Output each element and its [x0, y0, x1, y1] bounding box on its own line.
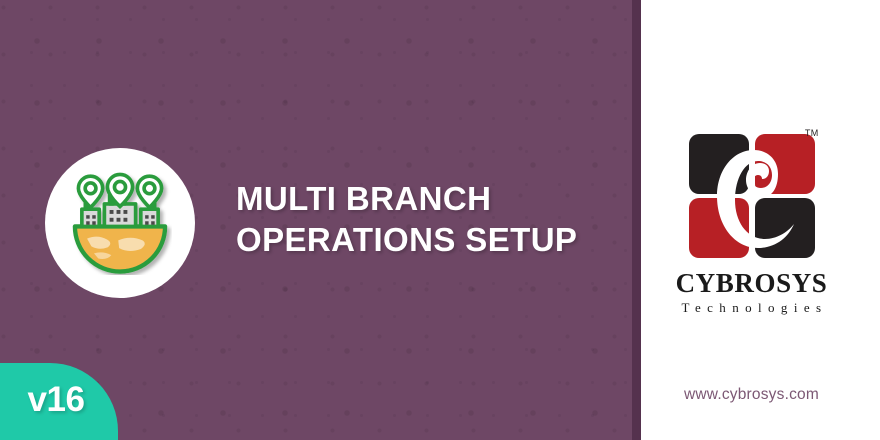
banner-title: MULTI BRANCH OPERATIONS SETUP: [236, 178, 626, 260]
panel-divider: [632, 0, 641, 440]
title-line-2: OPERATIONS SETUP: [236, 219, 626, 260]
title-line-1: MULTI BRANCH: [236, 178, 626, 219]
version-label: v16: [28, 380, 85, 420]
trademark-mark: TM: [805, 128, 819, 138]
brand-subtitle: Technologies: [676, 298, 828, 318]
brand-logo-block: TM CYBROSYS Technologies: [632, 126, 871, 318]
right-white-panel: TM CYBROSYS Technologies www.cybrosys.co…: [632, 0, 871, 440]
promo-banner: MULTI BRANCH OPERATIONS SETUP v16 TM: [0, 0, 880, 440]
version-badge: v16: [0, 363, 118, 440]
cybrosys-logo-icon: [677, 126, 827, 266]
cybrosys-logo-mark-wrap: TM: [677, 126, 827, 266]
multi-branch-globe-icon: [68, 171, 172, 275]
left-purple-panel: MULTI BRANCH OPERATIONS SETUP v16: [0, 0, 632, 440]
icon-circle-badge: [45, 148, 195, 298]
brand-name: CYBROSYS: [676, 268, 828, 298]
website-url: www.cybrosys.com: [632, 386, 871, 404]
